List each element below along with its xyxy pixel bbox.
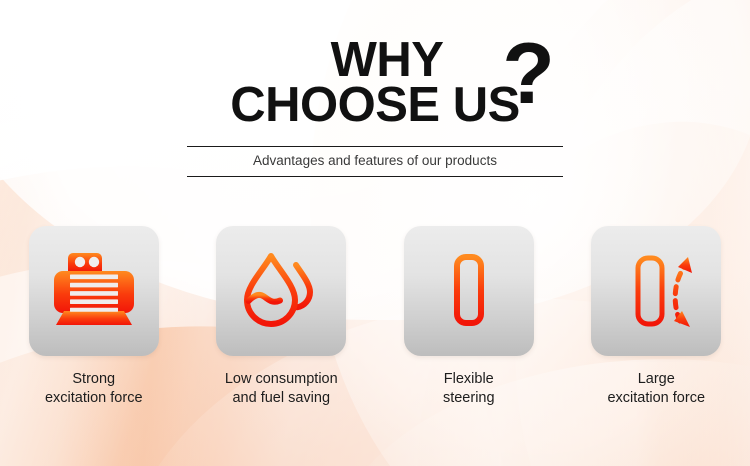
fuel-droplet-icon	[233, 243, 329, 339]
feature-caption: Strong excitation force	[45, 370, 143, 408]
steering-arrows-icon	[608, 243, 704, 339]
page-title: WHY CHOOSE US ?	[0, 38, 750, 128]
title-line-2-wrapper: CHOOSE US ?	[230, 83, 520, 128]
why-choose-us-banner: WHY CHOOSE US ? Advantages and features …	[0, 0, 750, 466]
feature-icon-tile	[404, 226, 534, 356]
question-mark-icon: ?	[502, 31, 555, 117]
feature-icon-tile	[216, 226, 346, 356]
feature-item: Strong excitation force	[0, 226, 188, 408]
feature-caption: Large excitation force	[607, 370, 705, 408]
feature-icon-tile-wrapper: Flexible steering	[375, 226, 563, 408]
subtitle-block: Advantages and features of our products	[187, 146, 563, 177]
feature-caption: Flexible steering	[443, 370, 495, 408]
title-line-2: CHOOSE US	[230, 83, 520, 128]
subtitle-text: Advantages and features of our products	[187, 147, 563, 176]
feature-item: Low consumption and fuel saving	[188, 226, 376, 408]
feature-item: Large excitation force	[563, 226, 750, 408]
divider-bottom	[187, 176, 563, 177]
electric-motor-icon	[46, 243, 142, 339]
feature-icon-tile	[591, 226, 721, 356]
feature-list: Strong excitation force	[0, 226, 750, 408]
title-line-1: WHY	[0, 38, 750, 83]
feature-icon-tile	[29, 226, 159, 356]
feature-caption: Low consumption and fuel saving	[225, 370, 338, 408]
vibration-waves-icon	[421, 243, 517, 339]
